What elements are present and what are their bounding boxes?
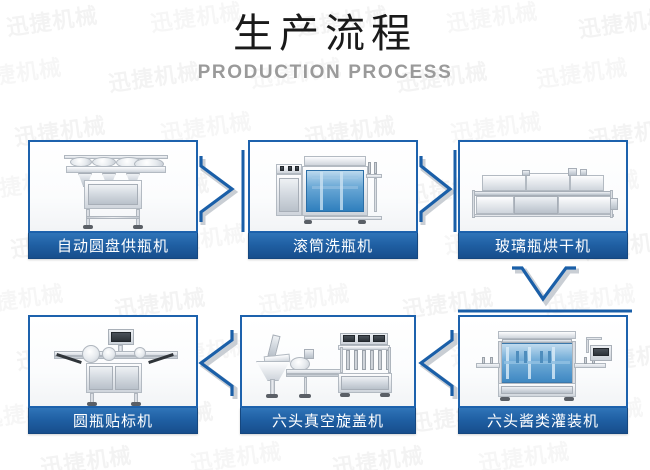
machine-photo-rotary-disc-bottle-feeder [28,140,198,233]
page-title: 生产流程 PRODUCTION PROCESS [0,8,650,85]
flow-step-6-label[interactable]: 六头酱类灌装机 [458,408,628,434]
watermark-text: 迅捷机械 [38,438,134,470]
arrow-step1-to-step2 [201,150,243,232]
watermark-text: 迅捷机械 [542,276,638,320]
arrow-step2-to-step3 [421,150,455,232]
page-title-cn: 生产流程 [0,8,650,60]
flow-step-2-label[interactable]: 滚筒洗瓶机 [248,233,418,259]
flow-step-4-label[interactable]: 圆瓶贴标机 [28,408,198,434]
machine-photo-round-bottle-labeling-machine [28,315,198,408]
flow-step-6[interactable]: 六头酱类灌装机 [458,315,628,434]
arrow-step3-to-step6 [458,268,632,311]
flow-step-3-label[interactable]: 玻璃瓶烘干机 [458,233,628,259]
arrow-step5-to-step4 [201,330,235,399]
watermark-text: 迅捷机械 [188,434,284,470]
watermark-text: 迅捷机械 [476,434,572,470]
watermark-text: 迅捷机械 [330,438,426,470]
flow-step-2[interactable]: 滚筒洗瓶机 [248,140,418,259]
production-process-diagram: 迅捷机械 迅捷机械 迅捷机械 迅捷机械 迅捷机械 迅捷机械 迅捷机械 迅捷机械 … [0,0,650,470]
watermark-text: 迅捷机械 [256,276,352,320]
flow-step-4[interactable]: 圆瓶贴标机 [28,315,198,434]
arrow-step6-to-step5 [421,330,455,399]
machine-photo-six-head-vacuum-capping-machine [240,315,416,408]
flow-step-3: 玻璃瓶烘干机 [458,140,628,259]
flow-step-5[interactable]: 六头真空旋盖机 [240,315,416,434]
watermark-text: 迅捷机械 [0,276,66,320]
flow-step-1[interactable]: 自动圆盘供瓶机 [28,140,198,259]
page-title-en: PRODUCTION PROCESS [0,61,650,85]
machine-photo-drum-bottle-washer [248,140,418,233]
machine-photo-six-head-sauce-filling-machine [458,315,628,408]
flow-step-1-label[interactable]: 自动圆盘供瓶机 [28,233,198,259]
flow-step-5-label[interactable]: 六头真空旋盖机 [240,408,416,434]
machine-photo-glass-bottle-tunnel-dryer [458,140,628,233]
